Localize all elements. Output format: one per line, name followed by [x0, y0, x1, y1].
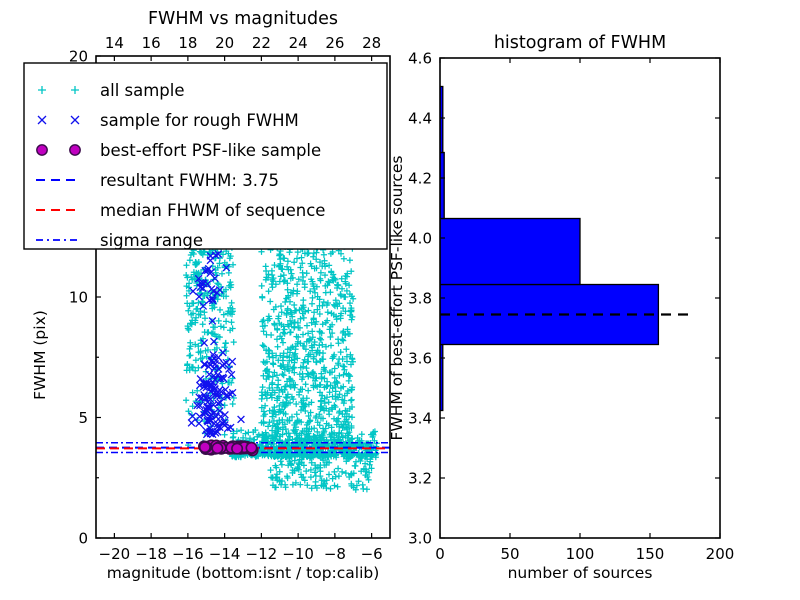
right-ytick-label: 4.4 [408, 110, 432, 128]
right-panel: 0501001502003.03.23.43.63.84.04.24.44.6 … [388, 33, 734, 582]
left-xtick-label: −12 [246, 545, 278, 563]
right-xaxis-label: number of sources [508, 564, 653, 582]
left-xtick-label: −10 [282, 545, 314, 563]
right-yaxis-label: FWHM of best-effort PSF-like sources [388, 155, 406, 440]
left-xtick-label: −16 [172, 545, 204, 563]
right-xtick-label: 150 [636, 545, 665, 563]
left-yaxis-label: FWHM (pix) [31, 310, 49, 400]
left-xtick-label: −18 [135, 545, 167, 563]
left-xtick-top-label: 14 [105, 34, 124, 52]
left-xtick-top-label: 16 [142, 34, 161, 52]
left-xtick-label: −20 [99, 545, 131, 563]
right-xtick-label: 200 [706, 545, 735, 563]
histogram-bar [440, 219, 580, 285]
legend-item-label: best-effort PSF-like sample [100, 141, 321, 160]
right-ytick-label: 4.2 [408, 170, 432, 188]
left-xtick-top-label: 28 [362, 34, 381, 52]
left-xtick-label: −8 [324, 545, 346, 563]
psf-sample-marker [246, 443, 256, 453]
left-xtick-top-label: 24 [289, 34, 308, 52]
left-xtick-label: −14 [209, 545, 241, 563]
right-xtick-label: 0 [435, 545, 445, 563]
right-ytick-label: 3.6 [408, 350, 432, 368]
right-ytick-label: 3.2 [408, 470, 432, 488]
right-xtick-label: 100 [566, 545, 595, 563]
left-xtick-top-label: 20 [215, 34, 234, 52]
psf-sample-marker [200, 442, 210, 452]
right-ytick-label: 3.4 [408, 410, 432, 428]
legend-item-label: sigma range [100, 231, 203, 250]
right-ytick-label: 4.6 [408, 50, 432, 68]
right-panel-title: histogram of FWHM [494, 33, 666, 53]
left-ytick-label: 10 [69, 289, 88, 307]
right-ytick-label: 4.0 [408, 230, 432, 248]
legend-item-label: median FHWM of sequence [100, 201, 325, 220]
left-xtick-top-label: 18 [178, 34, 197, 52]
matplotlib-figure: −20−18−16−14−12−10−8−6141618202224262805… [0, 0, 800, 600]
right-ytick-label: 3.0 [408, 530, 432, 548]
circle-icon [70, 145, 80, 155]
left-xtick-top-label: 26 [325, 34, 344, 52]
left-xtick-label: −6 [361, 545, 383, 563]
legend-item-label: all sample [100, 81, 185, 100]
psf-sample-marker [212, 443, 222, 453]
psf-sample-marker [232, 443, 242, 453]
left-xtick-top-label: 22 [252, 34, 271, 52]
series-psf-sample [199, 440, 258, 455]
legend-item-label: resultant FWHM: 3.75 [100, 171, 279, 190]
circle-icon [37, 145, 47, 155]
legend-item-label: sample for rough FWHM [100, 111, 299, 130]
left-xaxis-label: magnitude (bottom:isnt / top:calib) [107, 564, 380, 582]
right-ytick-label: 3.8 [408, 290, 432, 308]
legend: all samplesample for rough FWHMbest-effo… [24, 63, 387, 250]
left-ytick-label: 0 [78, 530, 88, 548]
left-ytick-label: 5 [78, 409, 88, 427]
figure-canvas: −20−18−16−14−12−10−8−6141618202224262805… [0, 0, 800, 600]
right-xtick-label: 50 [500, 545, 519, 563]
left-panel-title: FWHM vs magnitudes [148, 9, 338, 29]
